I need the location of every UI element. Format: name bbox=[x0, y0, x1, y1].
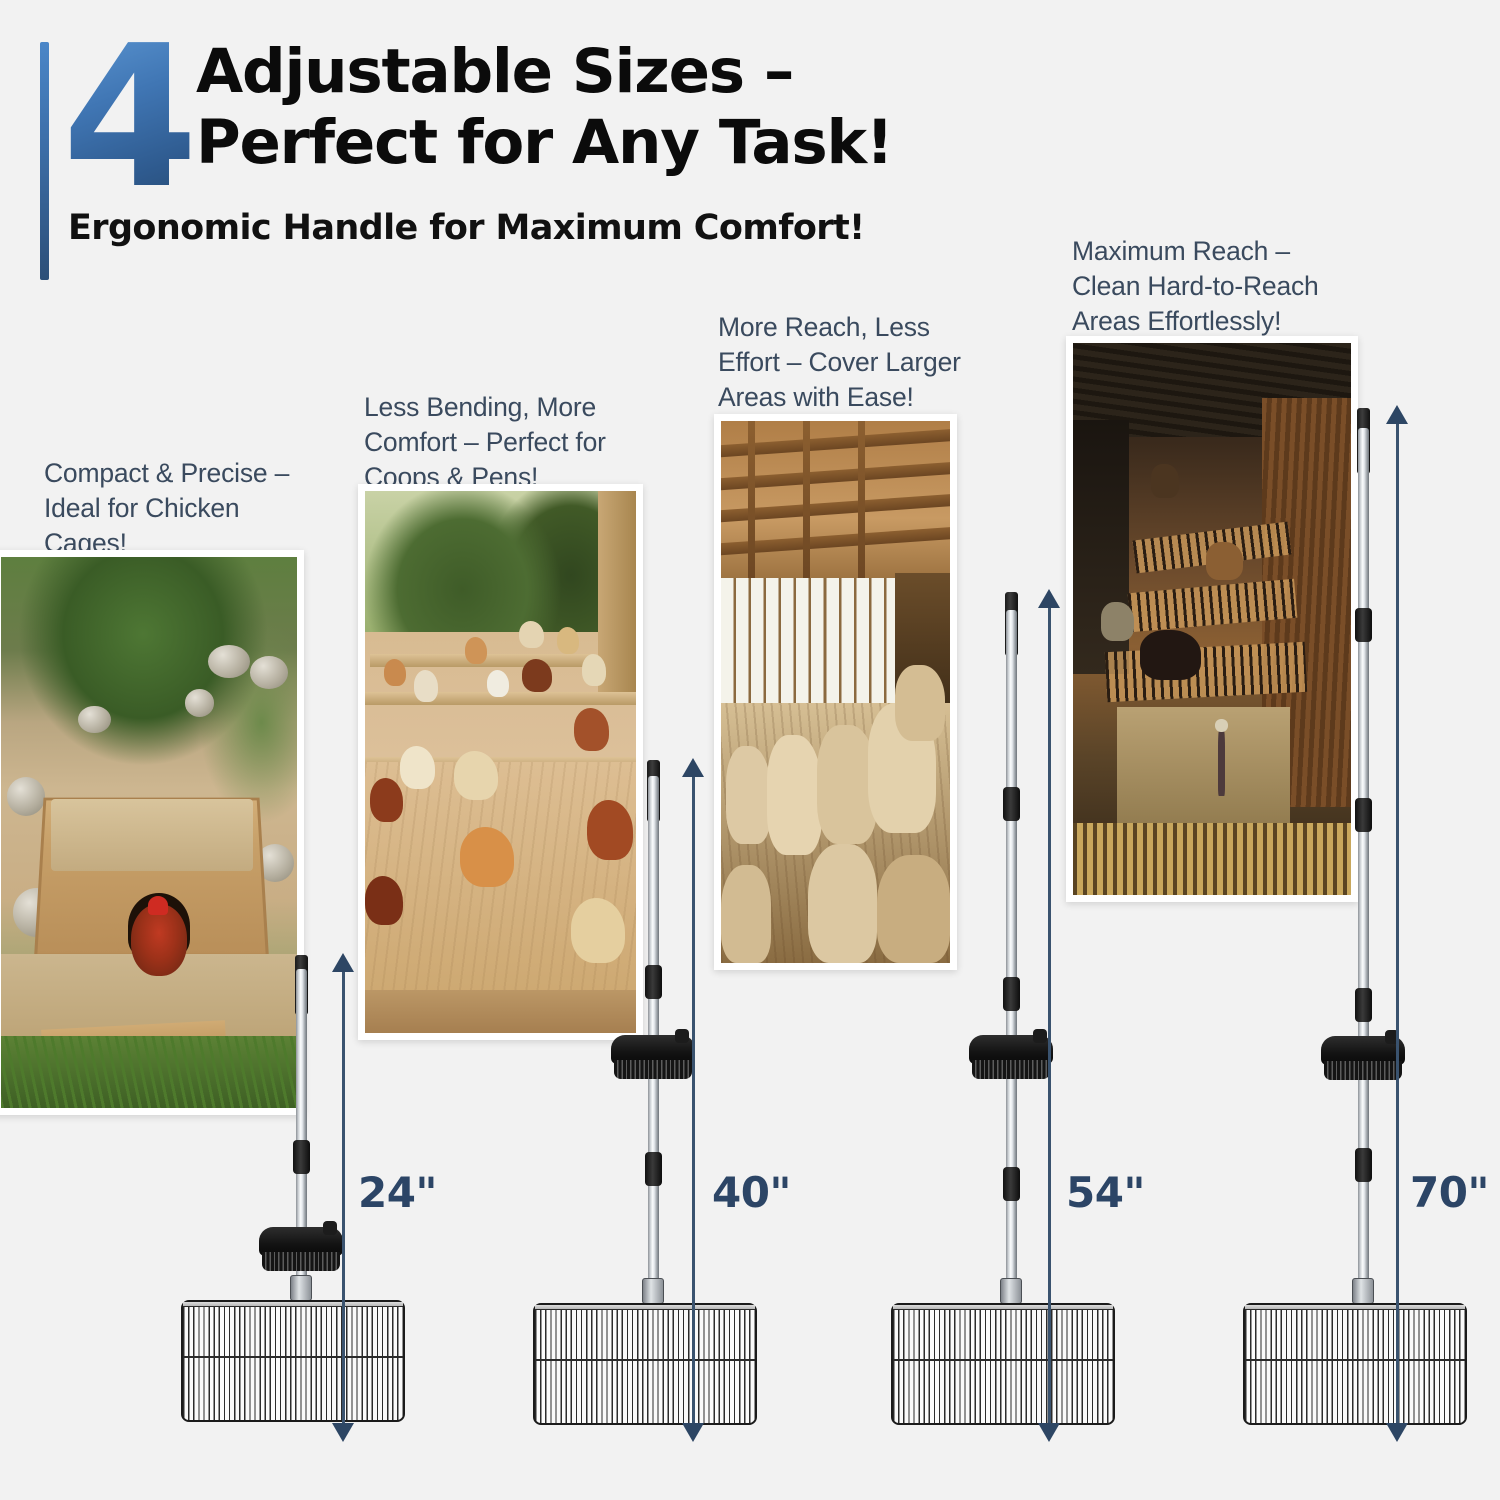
tool-40-inch bbox=[530, 760, 760, 1425]
size-label-24: 24" bbox=[358, 1168, 437, 1217]
size-label-40: 40" bbox=[712, 1168, 791, 1217]
pole-collar-1 bbox=[293, 1140, 310, 1174]
rake-head-1 bbox=[181, 1300, 405, 1422]
caption-column-3: More Reach, Less Effort – Cover Larger A… bbox=[718, 310, 1018, 416]
pole-collar-2b bbox=[645, 1152, 662, 1186]
size-label-54: 54" bbox=[1066, 1168, 1145, 1217]
rake-bracket-3 bbox=[1000, 1278, 1022, 1304]
dimension-arrow-70 bbox=[1396, 422, 1399, 1425]
page-title: Adjustable Sizes – Perfect for Any Task! bbox=[196, 36, 1146, 179]
pole-collar-4a bbox=[1355, 608, 1372, 642]
headline-number: 4 bbox=[62, 20, 194, 216]
rake-bracket-4 bbox=[1352, 1278, 1374, 1304]
infographic-canvas: 4 Adjustable Sizes – Perfect for Any Tas… bbox=[0, 0, 1500, 1500]
pole-collar-3b bbox=[1003, 977, 1020, 1011]
scraper-attachment-4 bbox=[1321, 1036, 1405, 1082]
pole-collar-4c bbox=[1355, 988, 1372, 1022]
accent-bar bbox=[40, 42, 49, 280]
caption-column-2: Less Bending, More Comfort – Perfect for… bbox=[364, 390, 664, 496]
pole-collar-4d bbox=[1355, 1148, 1372, 1182]
scraper-attachment-2 bbox=[611, 1035, 695, 1081]
rake-head-3 bbox=[891, 1303, 1115, 1425]
rake-bracket-2 bbox=[642, 1278, 664, 1304]
tool-54-inch bbox=[888, 592, 1118, 1425]
scraper-attachment-1 bbox=[259, 1227, 343, 1273]
pole-collar-2a bbox=[645, 965, 662, 999]
rake-head-2 bbox=[533, 1303, 757, 1425]
subtitle: Ergonomic Handle for Maximum Comfort! bbox=[68, 208, 864, 248]
scraper-attachment-3 bbox=[969, 1035, 1053, 1081]
dimension-arrow-54 bbox=[1048, 606, 1051, 1425]
caption-column-4: Maximum Reach – Clean Hard-to-Reach Area… bbox=[1072, 234, 1382, 340]
title-line-1: Adjustable Sizes – bbox=[196, 36, 1146, 107]
header-block: 4 Adjustable Sizes – Perfect for Any Tas… bbox=[40, 36, 1140, 286]
telescoping-pole-3 bbox=[1006, 610, 1017, 1310]
pole-collar-4b bbox=[1355, 798, 1372, 832]
caption-column-1: Compact & Precise – Ideal for Chicken Ca… bbox=[44, 456, 344, 562]
dimension-arrow-24 bbox=[342, 970, 345, 1425]
rake-head-4 bbox=[1243, 1303, 1467, 1425]
title-line-2: Perfect for Any Task! bbox=[196, 107, 1146, 178]
dimension-arrow-40 bbox=[692, 775, 695, 1425]
pole-collar-3c bbox=[1003, 1167, 1020, 1201]
size-label-70: 70" bbox=[1410, 1168, 1489, 1217]
rake-bracket-1 bbox=[290, 1275, 312, 1301]
tool-70-inch bbox=[1240, 408, 1470, 1425]
pole-collar-3a bbox=[1003, 787, 1020, 821]
